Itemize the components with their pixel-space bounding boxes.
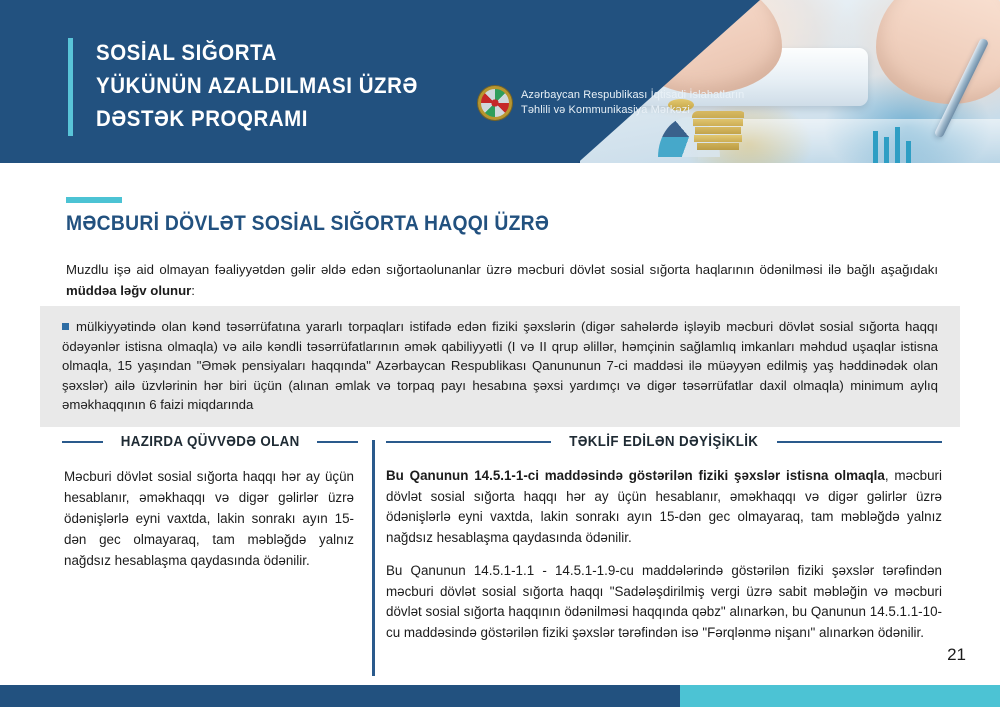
rule-right: [777, 441, 942, 443]
proposed-paragraph-1: Bu Qanunun 14.5.1-1-ci maddəsində göstər…: [386, 466, 942, 548]
azerbaijan-emblem-icon: [478, 86, 512, 120]
current-law-header-label: HAZIRDA QÜVVƏDƏ OLAN: [121, 434, 300, 450]
footer-bar: [0, 685, 1000, 707]
slide-page: SOSİAL SIĞORTA YÜKÜNÜN AZALDILMASI ÜZRƏ …: [0, 0, 1000, 707]
column-divider: [372, 440, 375, 676]
intro-text-tail: :: [191, 283, 195, 298]
intro-paragraph: Muzdlu işə aid olmayan fəaliyyətdən gəli…: [66, 259, 938, 301]
section-accent-bar: [66, 197, 122, 203]
section-title: MƏCBURİ DÖVLƏT SOSİAL SIĞORTA HAQQI ÜZRƏ: [66, 212, 549, 236]
page-number: 21: [947, 645, 966, 665]
header-banner: SOSİAL SIĞORTA YÜKÜNÜN AZALDILMASI ÜZRƏ …: [0, 0, 1000, 163]
current-law-text: Məcburi dövlət sosial sığorta haqqı hər …: [64, 466, 354, 571]
intro-text-lead: Muzdlu işə aid olmayan fəaliyyətdən gəli…: [66, 262, 938, 277]
square-bullet-icon: [62, 323, 69, 330]
footer-navy-segment: [0, 685, 680, 707]
intro-text-bold: müddəa ləğv olunur: [66, 283, 191, 298]
footer-teal-segment: [680, 685, 1000, 707]
current-law-header: HAZIRDA QÜVVƏDƏ OLAN: [62, 434, 358, 450]
proposed-change-header-label: TƏKLİF EDİLƏN DƏYİŞİKLİK: [569, 434, 758, 450]
organization-logo: Azərbaycan Respublikası İqtisadi İslahat…: [478, 86, 744, 120]
rule-right: [317, 441, 358, 443]
proposed-change-text: Bu Qanunun 14.5.1-1-ci maddəsində göstər…: [386, 466, 942, 643]
repealed-provision-body: mülkiyyətində olan kənd təsərrüfatına ya…: [62, 319, 938, 412]
repealed-provision-text: mülkiyyətində olan kənd təsərrüfatına ya…: [62, 317, 938, 415]
banner-title: SOSİAL SIĞORTA YÜKÜNÜN AZALDILMASI ÜZRƏ …: [96, 36, 418, 135]
proposed-change-header: TƏKLİF EDİLƏN DƏYİŞİKLİK: [386, 434, 942, 450]
repealed-provision-box: mülkiyyətində olan kənd təsərrüfatına ya…: [40, 306, 960, 427]
rule-left: [386, 441, 551, 443]
organization-name: Azərbaycan Respublikası İqtisadi İslahat…: [521, 88, 744, 118]
banner-accent-bar: [68, 38, 73, 136]
proposed-paragraph-2: Bu Qanunun 14.5.1-1.1 - 14.5.1-1.9-cu ma…: [386, 561, 942, 643]
proposed-paragraph-1-bold: Bu Qanunun 14.5.1-1-ci maddəsində göstər…: [386, 468, 885, 483]
rule-left: [62, 441, 103, 443]
